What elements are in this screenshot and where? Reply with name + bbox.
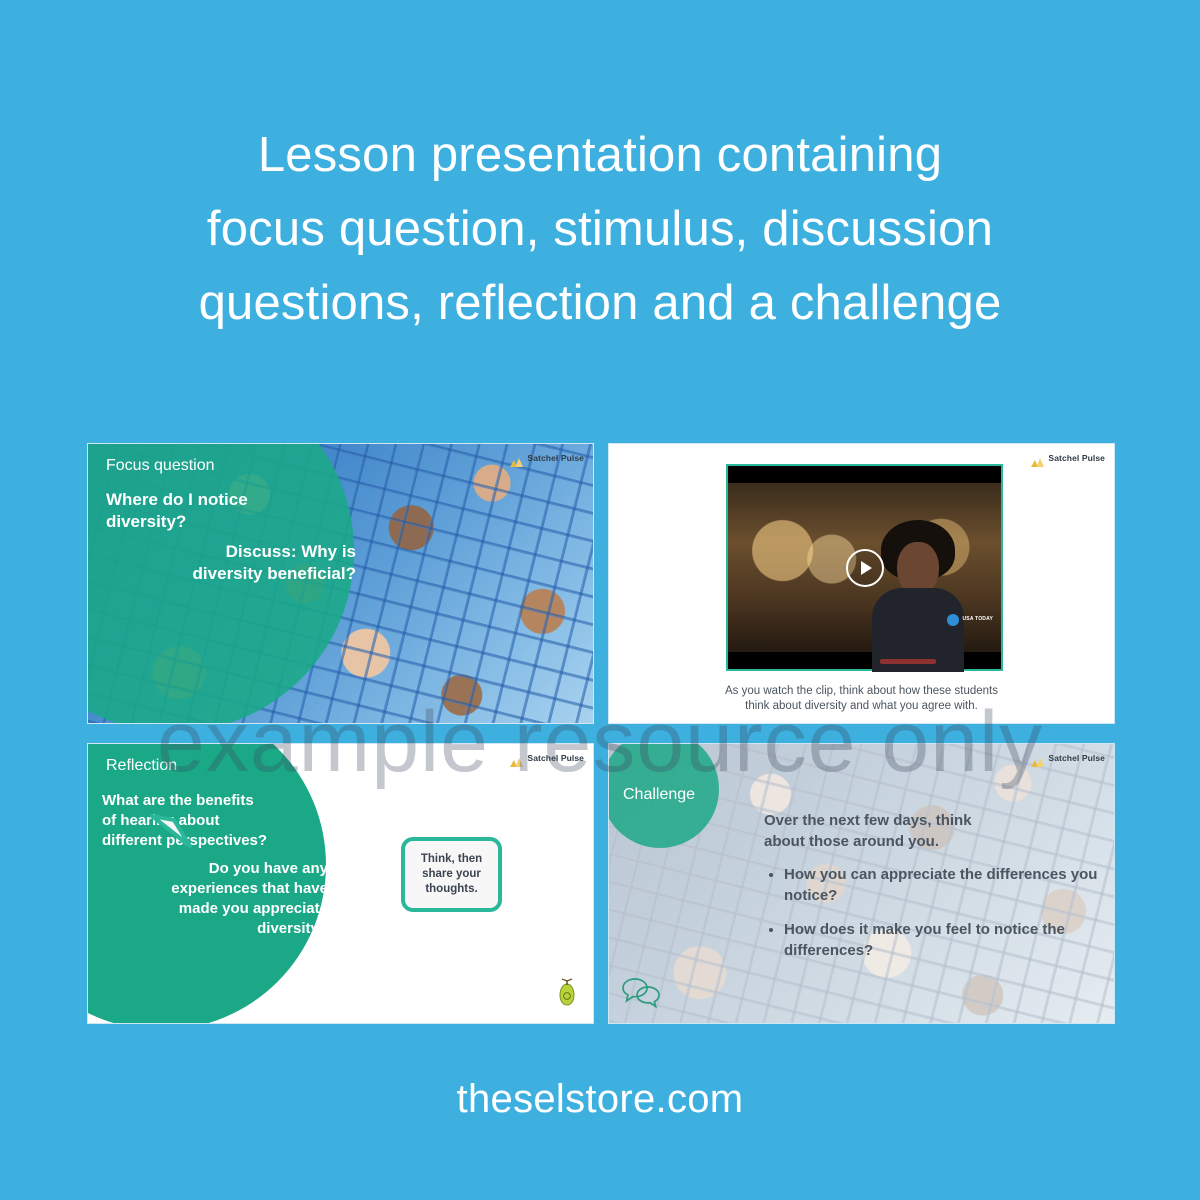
- slide-focus-question[interactable]: Satchel Pulse Focus question Where do I …: [87, 443, 594, 724]
- logo-text: Satchel Pulse: [527, 753, 584, 763]
- reflection-question-primary: What are the benefits of hearing about d…: [102, 791, 328, 851]
- logo-text: Satchel Pulse: [527, 453, 584, 463]
- usa-today-dot-icon: [947, 614, 959, 626]
- speech-bubble: Think, then share your thoughts.: [401, 837, 502, 912]
- challenge-intro: Over the next few days, think about thos…: [764, 810, 1084, 852]
- speech-bubble-text: Think, then share your thoughts.: [405, 841, 498, 908]
- slide-challenge[interactable]: Satchel Pulse Challenge Over the next fe…: [608, 743, 1115, 1024]
- mountain-icon: [510, 754, 523, 763]
- subject-body: [872, 588, 964, 672]
- footer-website-link[interactable]: theselstore.com: [0, 1077, 1200, 1122]
- slide-eyebrow-reflection: Reflection: [106, 757, 177, 775]
- mountain-icon: [510, 454, 523, 463]
- slide-reflection[interactable]: Satchel Pulse Reflection What are the be…: [87, 743, 594, 1024]
- pear-icon: [557, 978, 577, 1013]
- logo-text: Satchel Pulse: [1048, 453, 1105, 463]
- mountain-icon: [1031, 454, 1044, 463]
- challenge-bullet-list: How you can appreciate the differences y…: [764, 864, 1114, 974]
- list-item: How does it make you feel to notice the …: [784, 919, 1114, 961]
- mountain-icon: [1031, 754, 1044, 763]
- list-item: How you can appreciate the differences y…: [784, 864, 1114, 906]
- video-caption: As you watch the clip, think about how t…: [639, 684, 1084, 714]
- speech-bubble-tail: [150, 814, 194, 853]
- reflection-question-secondary: Do you have any experiences that have ma…: [102, 859, 328, 939]
- speech-bubbles-icon: [621, 976, 661, 1013]
- page-title: Lesson presentation containing focus que…: [0, 118, 1200, 340]
- slide-eyebrow-focus-question: Focus question: [106, 457, 215, 475]
- slide-eyebrow-challenge: Challenge: [623, 786, 695, 804]
- logo-text: Satchel Pulse: [1048, 753, 1105, 763]
- play-icon[interactable]: [846, 549, 884, 587]
- satchel-pulse-logo: Satchel Pulse: [1031, 453, 1105, 463]
- video-player[interactable]: USA TODAY: [726, 464, 1003, 671]
- usa-today-label: USA TODAY: [962, 617, 993, 623]
- satchel-pulse-logo: Satchel Pulse: [510, 753, 584, 763]
- play-triangle: [861, 561, 872, 575]
- satchel-pulse-logo: Satchel Pulse: [1031, 753, 1105, 763]
- usa-today-watermark: USA TODAY: [947, 614, 993, 626]
- video-subject: [870, 520, 966, 670]
- slide-stimulus-video[interactable]: Satchel Pulse USA TODAY As you watch the…: [608, 443, 1115, 724]
- focus-question-primary: Where do I notice diversity?: [106, 489, 356, 533]
- satchel-pulse-logo: Satchel Pulse: [510, 453, 584, 463]
- focus-question-discuss: Discuss: Why is diversity beneficial?: [106, 541, 356, 585]
- slide-gallery: Satchel Pulse Focus question Where do I …: [87, 443, 1115, 1024]
